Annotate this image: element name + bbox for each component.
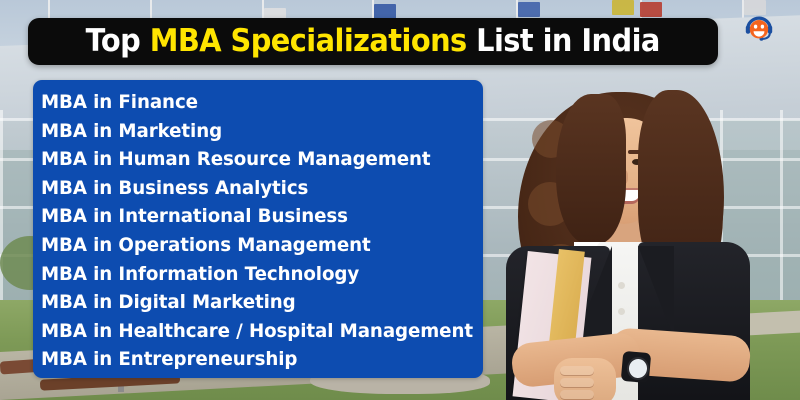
list-item: MBA in Business Analytics [41, 174, 465, 203]
specializations-list-panel: MBA in Finance MBA in Marketing MBA in H… [33, 80, 483, 378]
shirt-button [618, 308, 625, 315]
support-headset-smiley-svg [744, 13, 774, 43]
mullion [0, 110, 3, 305]
list-item: MBA in International Business [41, 202, 465, 231]
blazer-lapel [638, 246, 674, 338]
banner-title-bar: Top MBA Specializations List in India [28, 18, 718, 65]
hair-front-left [556, 94, 626, 244]
title-part-1: Top [86, 23, 150, 59]
page-title: Top MBA Specializations List in India [86, 26, 660, 57]
flag [518, 2, 540, 17]
list-item: MBA in Entrepreneurship [41, 345, 465, 374]
title-part-2: List in India [467, 23, 660, 59]
finger [560, 378, 594, 387]
finger [560, 366, 594, 375]
list-item: MBA in Digital Marketing [41, 288, 465, 317]
support-headset-smiley-icon[interactable] [744, 13, 774, 43]
list-item: MBA in Human Resource Management [41, 145, 465, 174]
list-item: MBA in Information Technology [41, 260, 465, 289]
flag [374, 4, 396, 19]
flag [640, 2, 662, 17]
list-item: MBA in Finance [41, 88, 465, 117]
flag [612, 0, 634, 15]
finger [560, 390, 594, 399]
list-item: MBA in Healthcare / Hospital Management [41, 317, 465, 346]
shirt-button [618, 282, 625, 289]
list-item: MBA in Marketing [41, 117, 465, 146]
title-highlight: MBA Specializations [150, 23, 467, 59]
mba-specializations-banner: Top MBA Specializations List in India MB… [0, 0, 800, 400]
woman-photo-subject [498, 86, 758, 400]
list-item: MBA in Operations Management [41, 231, 465, 260]
mullion [780, 110, 783, 310]
